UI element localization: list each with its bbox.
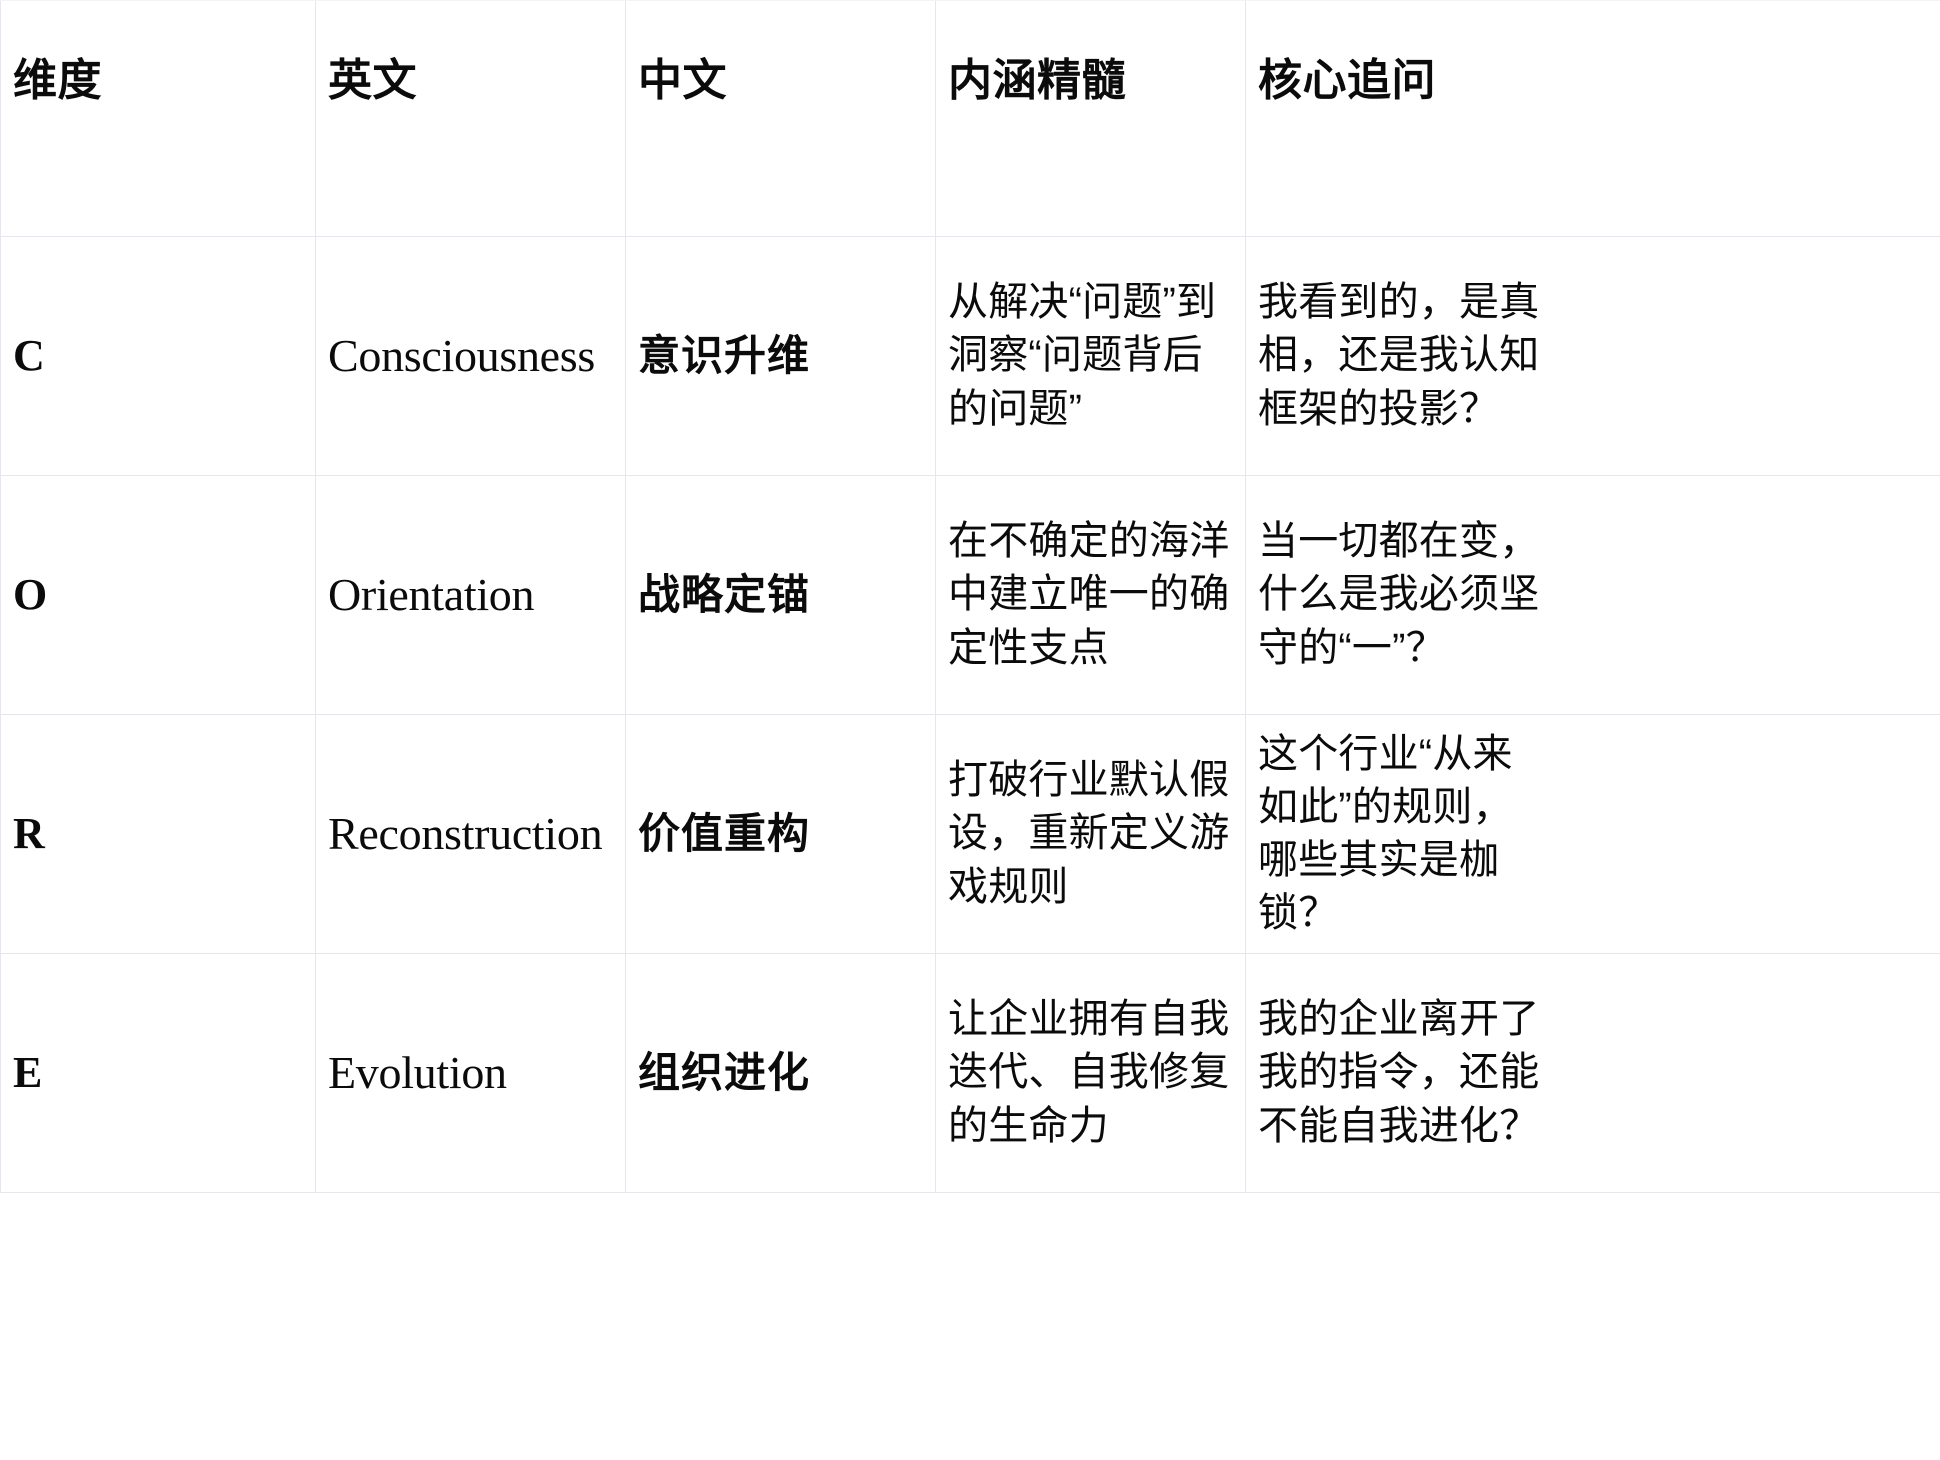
cell-question: 当一切都在变，什么是我必须坚守的“一”？: [1246, 476, 1940, 715]
cell-dimension: E: [1, 954, 316, 1193]
table-header: 维度 英文 中文 内涵精髓 核心追问: [1, 1, 1940, 237]
column-header-chinese: 中文: [626, 1, 936, 237]
column-header-english-label: 英文: [328, 55, 613, 107]
cell-essence: 从解决“问题”到洞察“问题背后的问题”: [936, 237, 1246, 476]
cell-english: Consciousness: [316, 237, 626, 476]
column-header-chinese-label: 中文: [638, 55, 923, 107]
column-header-essence: 内涵精髓: [936, 1, 1246, 237]
table-row: R Reconstruction 价值重构 打破行业默认假设，重新定义游戏规则 …: [1, 715, 1940, 954]
column-header-essence-label: 内涵精髓: [948, 55, 1233, 107]
cell-dimension: O: [1, 476, 316, 715]
cell-essence: 让企业拥有自我迭代、自我修复的生命力: [936, 954, 1246, 1193]
cell-chinese: 战略定锚: [626, 476, 936, 715]
cell-question: 我的企业离开了我的指令，还能不能自我进化？: [1246, 954, 1940, 1193]
cell-english: Evolution: [316, 954, 626, 1193]
cell-dimension: C: [1, 237, 316, 476]
cell-essence-text: 打破行业默认假设，重新定义游戏规则: [948, 754, 1233, 914]
cell-question: 我看到的，是真相，还是我认知框架的投影？: [1246, 237, 1940, 476]
cell-question-text: 我看到的，是真相，还是我认知框架的投影？: [1258, 276, 1550, 436]
column-header-question: 核心追问: [1246, 1, 1940, 237]
core-framework-table: 维度 英文 中文 内涵精髓 核心追问 C Consciousness: [0, 0, 1940, 1193]
cell-question-text: 我的企业离开了我的指令，还能不能自我进化？: [1258, 993, 1550, 1153]
cell-chinese: 价值重构: [626, 715, 936, 954]
table-body: C Consciousness 意识升维 从解决“问题”到洞察“问题背后的问题”…: [1, 237, 1940, 1193]
cell-essence: 在不确定的海洋中建立唯一的确定性支点: [936, 476, 1246, 715]
cell-dimension: R: [1, 715, 316, 954]
table-row: O Orientation 战略定锚 在不确定的海洋中建立唯一的确定性支点 当一…: [1, 476, 1940, 715]
cell-chinese: 组织进化: [626, 954, 936, 1193]
cell-english: Orientation: [316, 476, 626, 715]
cell-question-text: 当一切都在变，什么是我必须坚守的“一”？: [1258, 515, 1550, 675]
table-row: E Evolution 组织进化 让企业拥有自我迭代、自我修复的生命力 我的企业…: [1, 954, 1940, 1193]
cell-essence-text: 在不确定的海洋中建立唯一的确定性支点: [948, 515, 1233, 675]
page-root: 维度 英文 中文 内涵精髓 核心追问 C Consciousness: [0, 0, 1940, 1460]
cell-question-text: 这个行业“从来如此”的规则，哪些其实是枷锁？: [1258, 728, 1550, 941]
cell-question: 这个行业“从来如此”的规则，哪些其实是枷锁？: [1246, 715, 1940, 954]
cell-english: Reconstruction: [316, 715, 626, 954]
column-header-dimension: 维度: [1, 1, 316, 237]
cell-essence-text: 让企业拥有自我迭代、自我修复的生命力: [948, 993, 1233, 1153]
column-header-question-label: 核心追问: [1258, 55, 1928, 107]
cell-chinese: 意识升维: [626, 237, 936, 476]
table-header-row: 维度 英文 中文 内涵精髓 核心追问: [1, 1, 1940, 237]
cell-essence: 打破行业默认假设，重新定义游戏规则: [936, 715, 1246, 954]
table-row: C Consciousness 意识升维 从解决“问题”到洞察“问题背后的问题”…: [1, 237, 1940, 476]
column-header-dimension-label: 维度: [13, 55, 303, 107]
cell-essence-text: 从解决“问题”到洞察“问题背后的问题”: [948, 276, 1233, 436]
table-top-rule: [0, 0, 1940, 1]
column-header-english: 英文: [316, 1, 626, 237]
